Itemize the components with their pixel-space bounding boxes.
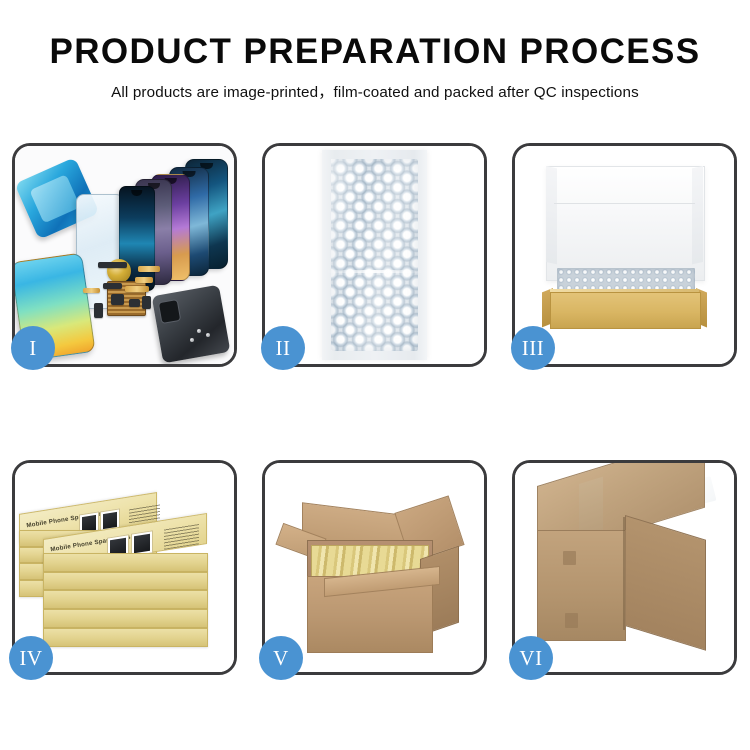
connector-strip-icon [103, 283, 123, 288]
button-part-icon [142, 296, 151, 309]
stacked-boxes-illustration: Mobile Phone Spare Parts Mobile Phone Sp… [15, 463, 234, 672]
flex-cable-2-icon [135, 277, 153, 284]
carton-filling-illustration [265, 463, 484, 672]
step-badge-1: I [11, 326, 55, 370]
header: PRODUCT PREPARATION PROCESS All products… [0, 34, 750, 102]
sim-tray-icon [94, 303, 103, 318]
page-subtitle: All products are image-printed，film-coat… [0, 80, 750, 102]
camera-module-icon [111, 294, 124, 305]
speaker-part-icon [129, 299, 140, 308]
step-badge-2: II [261, 326, 305, 370]
carton-patch-1-icon [563, 551, 576, 566]
step-panel-6[interactable]: VI [512, 460, 737, 675]
product-preparation-poster: PRODUCT PREPARATION PROCESS All products… [0, 0, 750, 750]
step-image-6 [515, 463, 734, 672]
box-front-1-icon [43, 553, 207, 572]
phone-back-housing-icon [152, 285, 231, 363]
step-badge-6: VI [509, 636, 553, 680]
flex-cable-1-icon [138, 266, 160, 273]
step-panel-4[interactable]: Mobile Phone Spare Parts Mobile Phone Sp… [12, 460, 237, 675]
box-front-4-icon [43, 609, 207, 628]
lid-fold-left-icon [546, 166, 557, 264]
step-badge-5: V [259, 636, 303, 680]
box-front-5-icon [43, 628, 207, 647]
wrap-fold-line-icon [326, 270, 422, 273]
carton-corner-seam-icon [623, 517, 625, 630]
step-panel-5[interactable]: V [262, 460, 487, 675]
step-panel-3[interactable]: III [512, 143, 737, 367]
lid-crease-icon [554, 203, 694, 204]
flex-cable-4-icon [83, 288, 101, 293]
step-panel-1[interactable]: I [12, 143, 237, 367]
page-title: PRODUCT PREPARATION PROCESS [0, 34, 750, 71]
box-lid-icon [546, 166, 706, 281]
step-badge-3: III [511, 326, 555, 370]
screw-1-icon [197, 329, 201, 333]
screw-3-icon [190, 338, 194, 342]
box-stack-group: Mobile Phone Spare Parts Mobile Phone Sp… [15, 463, 234, 672]
sealed-carton-illustration [515, 463, 734, 672]
process-step-grid: I II [12, 143, 738, 675]
box-front-3-icon [43, 590, 207, 609]
carton-right-face-icon [625, 515, 706, 650]
step-image-5 [265, 463, 484, 672]
step-badge-4: IV [9, 636, 53, 680]
carton-patch-2-icon [565, 613, 578, 628]
step-panel-2[interactable]: II [262, 143, 487, 367]
kraft-box-front-icon [550, 292, 701, 329]
box-front-2-icon [43, 572, 207, 591]
lid-fold-right-icon [692, 166, 703, 264]
flex-cable-3-icon [125, 286, 149, 293]
notch-icon [131, 190, 143, 196]
earpiece-mesh-icon [98, 262, 126, 269]
bubble-wrap-texture-icon [331, 159, 419, 351]
carton-left-face-icon [537, 530, 627, 641]
step-image-4: Mobile Phone Spare Parts Mobile Phone Sp… [15, 463, 234, 672]
